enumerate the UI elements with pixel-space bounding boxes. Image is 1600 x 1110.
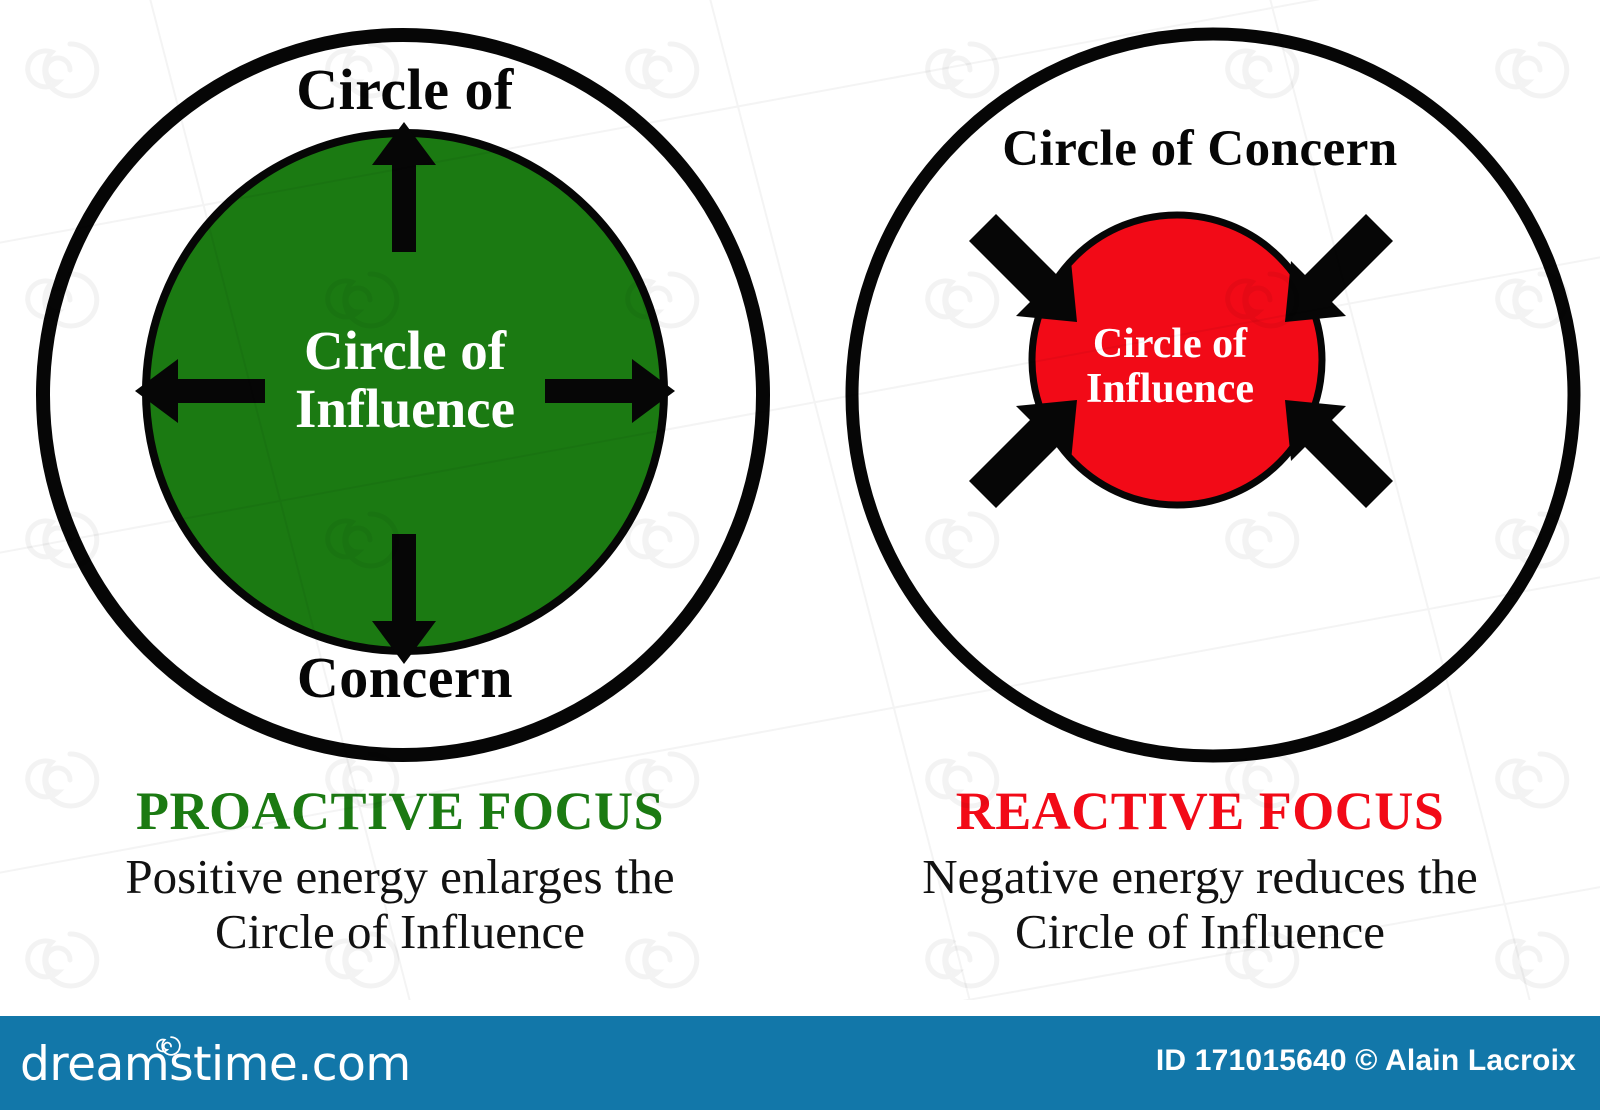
- reactive-caption-line1: Negative energy reduces the: [840, 850, 1560, 905]
- dreamstime-logo-text: dreamstime.com: [20, 1037, 411, 1092]
- panel-proactive: Circle of Concern Circle of Influence PR…: [0, 0, 800, 1000]
- reactive-caption-line2: Circle of Influence: [840, 905, 1560, 960]
- reactive-caption-title: REACTIVE FOCUS: [800, 784, 1600, 838]
- proactive-caption: PROACTIVE FOCUS Positive energy enlarges…: [0, 784, 800, 960]
- reactive-caption-body: Negative energy reduces the Circle of In…: [800, 850, 1600, 960]
- proactive-concern-label-line2: Concern: [150, 648, 660, 707]
- reactive-influence-label-line2: Influence: [1020, 367, 1320, 412]
- proactive-caption-line2: Circle of Influence: [40, 905, 760, 960]
- panel-reactive: Circle of Concern Circle of Influence RE…: [800, 0, 1600, 1000]
- footer-credit-text: ID 171015640 © Alain Lacroix: [1156, 1044, 1576, 1078]
- footer-bar: dreamstime.com ID 171015640 © Alain Lacr…: [0, 1016, 1600, 1110]
- reactive-influence-label-line1: Circle of: [1020, 322, 1320, 367]
- proactive-caption-body: Positive energy enlarges the Circle of I…: [0, 850, 800, 960]
- proactive-concern-label-line1: Circle of: [150, 60, 660, 119]
- reactive-concern-label: Circle of Concern: [935, 123, 1465, 175]
- proactive-caption-line1: Positive energy enlarges the: [40, 850, 760, 905]
- proactive-influence-label-line1: Circle of: [170, 322, 640, 380]
- proactive-influence-label: Circle of Influence: [170, 322, 640, 439]
- reactive-caption: REACTIVE FOCUS Negative energy reduces t…: [800, 784, 1600, 960]
- proactive-influence-label-line2: Influence: [170, 380, 640, 438]
- dreamstime-logo[interactable]: dreamstime.com: [20, 1032, 440, 1094]
- reactive-influence-label: Circle of Influence: [1020, 322, 1320, 411]
- proactive-caption-title: PROACTIVE FOCUS: [0, 784, 800, 838]
- diagram-canvas: Circle of Concern Circle of Influence PR…: [0, 0, 1600, 1110]
